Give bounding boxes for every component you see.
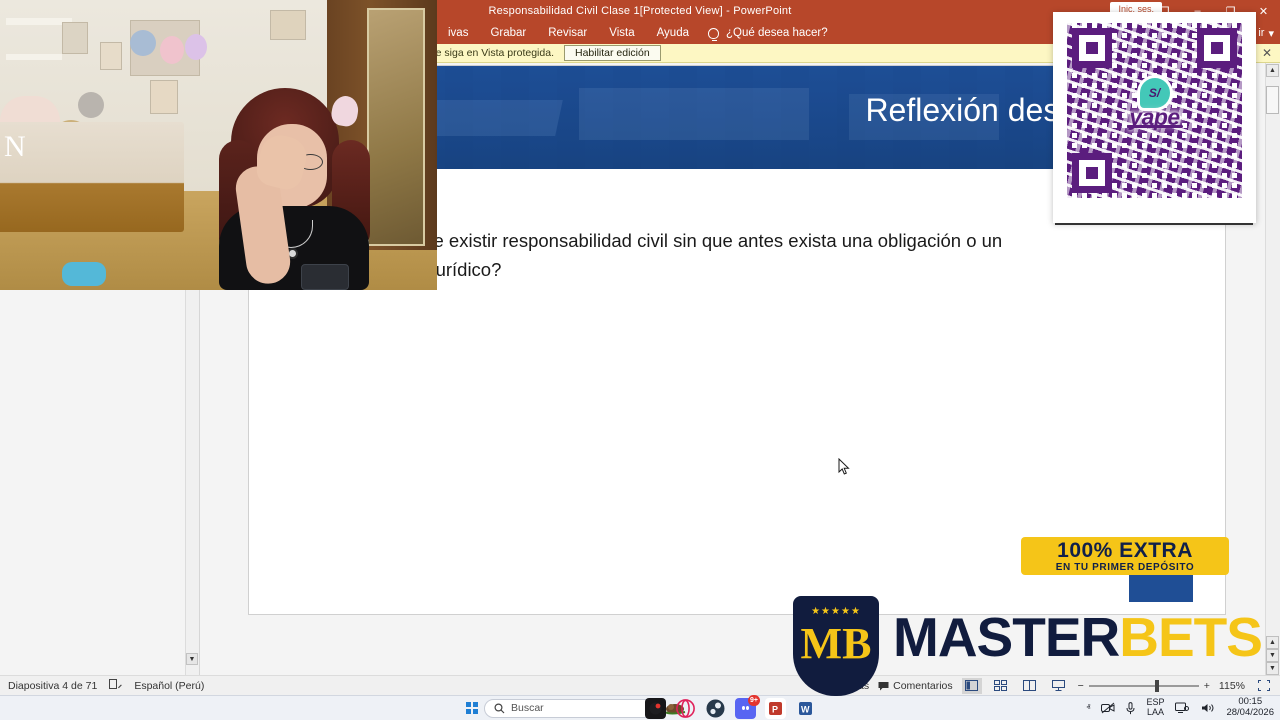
- search-icon: [494, 703, 505, 714]
- chevron-down-icon[interactable]: ▾: [1268, 27, 1274, 40]
- clock-date: 28/04/2026: [1226, 707, 1274, 718]
- tab-vista[interactable]: Vista: [598, 22, 645, 44]
- plush-toy: [130, 30, 156, 56]
- slide-counter[interactable]: Diapositiva 4 de 71: [8, 680, 97, 692]
- qr-finder-icon: [1197, 28, 1237, 68]
- promo-subline: EN TU PRIMER DEPÓSITO: [1056, 563, 1195, 573]
- bed: [0, 122, 184, 232]
- tab-revisar[interactable]: Revisar: [537, 22, 598, 44]
- windows-start-icon[interactable]: [466, 702, 478, 714]
- language-line1: ESP: [1146, 697, 1164, 707]
- volume-icon[interactable]: [1201, 702, 1215, 714]
- scroll-down-icon[interactable]: ▼: [186, 653, 198, 665]
- svg-text:W: W: [801, 704, 810, 714]
- microphone-icon[interactable]: [1126, 702, 1135, 715]
- taskbar-app-steam[interactable]: [705, 698, 726, 719]
- enable-editing-button[interactable]: Habilitar edición: [564, 45, 661, 61]
- fit-to-window-button[interactable]: [1254, 678, 1274, 694]
- masterbets-logo: ★★★★★ MB MASTERBETS: [793, 596, 1253, 696]
- camera-off-icon[interactable]: [1101, 702, 1115, 714]
- wall-shelf: [6, 54, 62, 60]
- language-indicator[interactable]: Español (Perú): [134, 680, 204, 692]
- close-icon[interactable]: ✕: [1262, 46, 1272, 60]
- screen: Responsabilidad Civil Clase 1[Protected …: [0, 0, 1280, 720]
- taskbar-app-discord[interactable]: 9+: [735, 698, 756, 719]
- previous-slide-button[interactable]: ▲: [1266, 636, 1279, 649]
- tell-me-label: ¿Qué desea hacer?: [726, 27, 828, 39]
- share-button[interactable]: ir: [1258, 27, 1264, 39]
- masterbets-promo-banner[interactable]: 100% EXTRA EN TU PRIMER DEPÓSITO: [1021, 537, 1229, 575]
- system-tray: ⱏ ESP LAA: [1086, 697, 1274, 719]
- plush-toy: [160, 36, 184, 64]
- wall-poster: [100, 42, 122, 70]
- next-slide-button[interactable]: ▼: [1266, 649, 1279, 662]
- tab-animaciones[interactable]: ivas: [437, 22, 479, 44]
- qr-finder-icon: [1072, 28, 1112, 68]
- streamer-person: [205, 88, 380, 290]
- mouse-cursor: [838, 458, 850, 476]
- notification-badge: 9+: [748, 695, 760, 706]
- scrollbar-thumb[interactable]: [1266, 86, 1279, 114]
- watermark-letter: N: [4, 130, 26, 164]
- wall-poster: [62, 22, 88, 54]
- wall-poster: [150, 80, 178, 114]
- qr-code: S/ yape: [1067, 23, 1242, 198]
- plush-toy: [185, 34, 207, 60]
- monogram: MB: [793, 622, 879, 666]
- panel-baseline: [1055, 223, 1253, 225]
- window-title: Responsabilidad Civil Clase 1[Protected …: [488, 5, 791, 17]
- vertical-scrollbar[interactable]: ▲ ▼ ▼ ▲: [1265, 63, 1280, 675]
- accessibility-icon[interactable]: [109, 679, 122, 693]
- taskbar-app-twitch[interactable]: [645, 698, 666, 719]
- yape-underline: [1127, 125, 1183, 128]
- search-placeholder: Buscar: [511, 702, 544, 714]
- stars-icon: ★★★★★: [793, 606, 879, 617]
- search-input[interactable]: Buscar: [484, 699, 654, 718]
- qr-finder-icon: [1072, 153, 1112, 193]
- brand-word-master: MASTER: [893, 606, 1119, 668]
- taskbar-app-word[interactable]: W: [795, 698, 816, 719]
- status-left: Diapositiva 4 de 71 Español (Perú): [0, 679, 204, 693]
- network-icon[interactable]: [1175, 702, 1190, 714]
- taskbar-apps: 9+ P W: [645, 698, 816, 719]
- cat-ear-headband: [330, 94, 361, 128]
- tab-grabar[interactable]: Grabar: [479, 22, 537, 44]
- svg-text:P: P: [772, 704, 778, 714]
- taskbar-app-powerpoint[interactable]: P: [765, 698, 786, 719]
- yape-qr-overlay[interactable]: S/ yape: [1053, 12, 1256, 223]
- windows-taskbar: Buscar 9+: [0, 695, 1280, 720]
- brand-wordmark: MASTERBETS: [893, 610, 1262, 665]
- tell-me-box[interactable]: ¿Qué desea hacer?: [700, 27, 828, 39]
- share-group: ir ▾: [1258, 22, 1274, 44]
- notes-page-icon: [109, 679, 122, 690]
- scroll-down-icon[interactable]: ▼: [1266, 662, 1279, 675]
- scroll-up-icon[interactable]: ▲: [1266, 64, 1279, 77]
- clock-time: 00:15: [1238, 696, 1262, 707]
- fit-window-icon: [1258, 680, 1270, 691]
- language-switcher[interactable]: ESP LAA: [1146, 698, 1164, 718]
- brand-word-bets: BETS: [1119, 606, 1262, 668]
- promo-headline: 100% EXTRA: [1057, 540, 1193, 561]
- language-line2: LAA: [1147, 707, 1164, 717]
- lightbulb-icon: [708, 28, 719, 39]
- taskbar-app-opera[interactable]: [675, 698, 696, 719]
- plush-toy: [78, 92, 104, 118]
- wall-poster: [270, 10, 306, 40]
- yape-logo: S/ yape: [1118, 78, 1192, 140]
- floor-toy: [62, 262, 106, 286]
- show-hidden-icons-icon[interactable]: ⱏ: [1086, 703, 1090, 713]
- tab-ayuda[interactable]: Ayuda: [646, 22, 700, 44]
- slide-body-text: ¿Puede existir responsabilidad civil sin…: [379, 226, 1049, 284]
- protected-view-message: que siga en Vista protegida.: [424, 47, 554, 59]
- phone: [301, 264, 349, 290]
- band-shape: [579, 88, 809, 140]
- webcam-overlay[interactable]: N: [0, 0, 437, 290]
- clock[interactable]: 00:15 28/04/2026: [1226, 697, 1274, 719]
